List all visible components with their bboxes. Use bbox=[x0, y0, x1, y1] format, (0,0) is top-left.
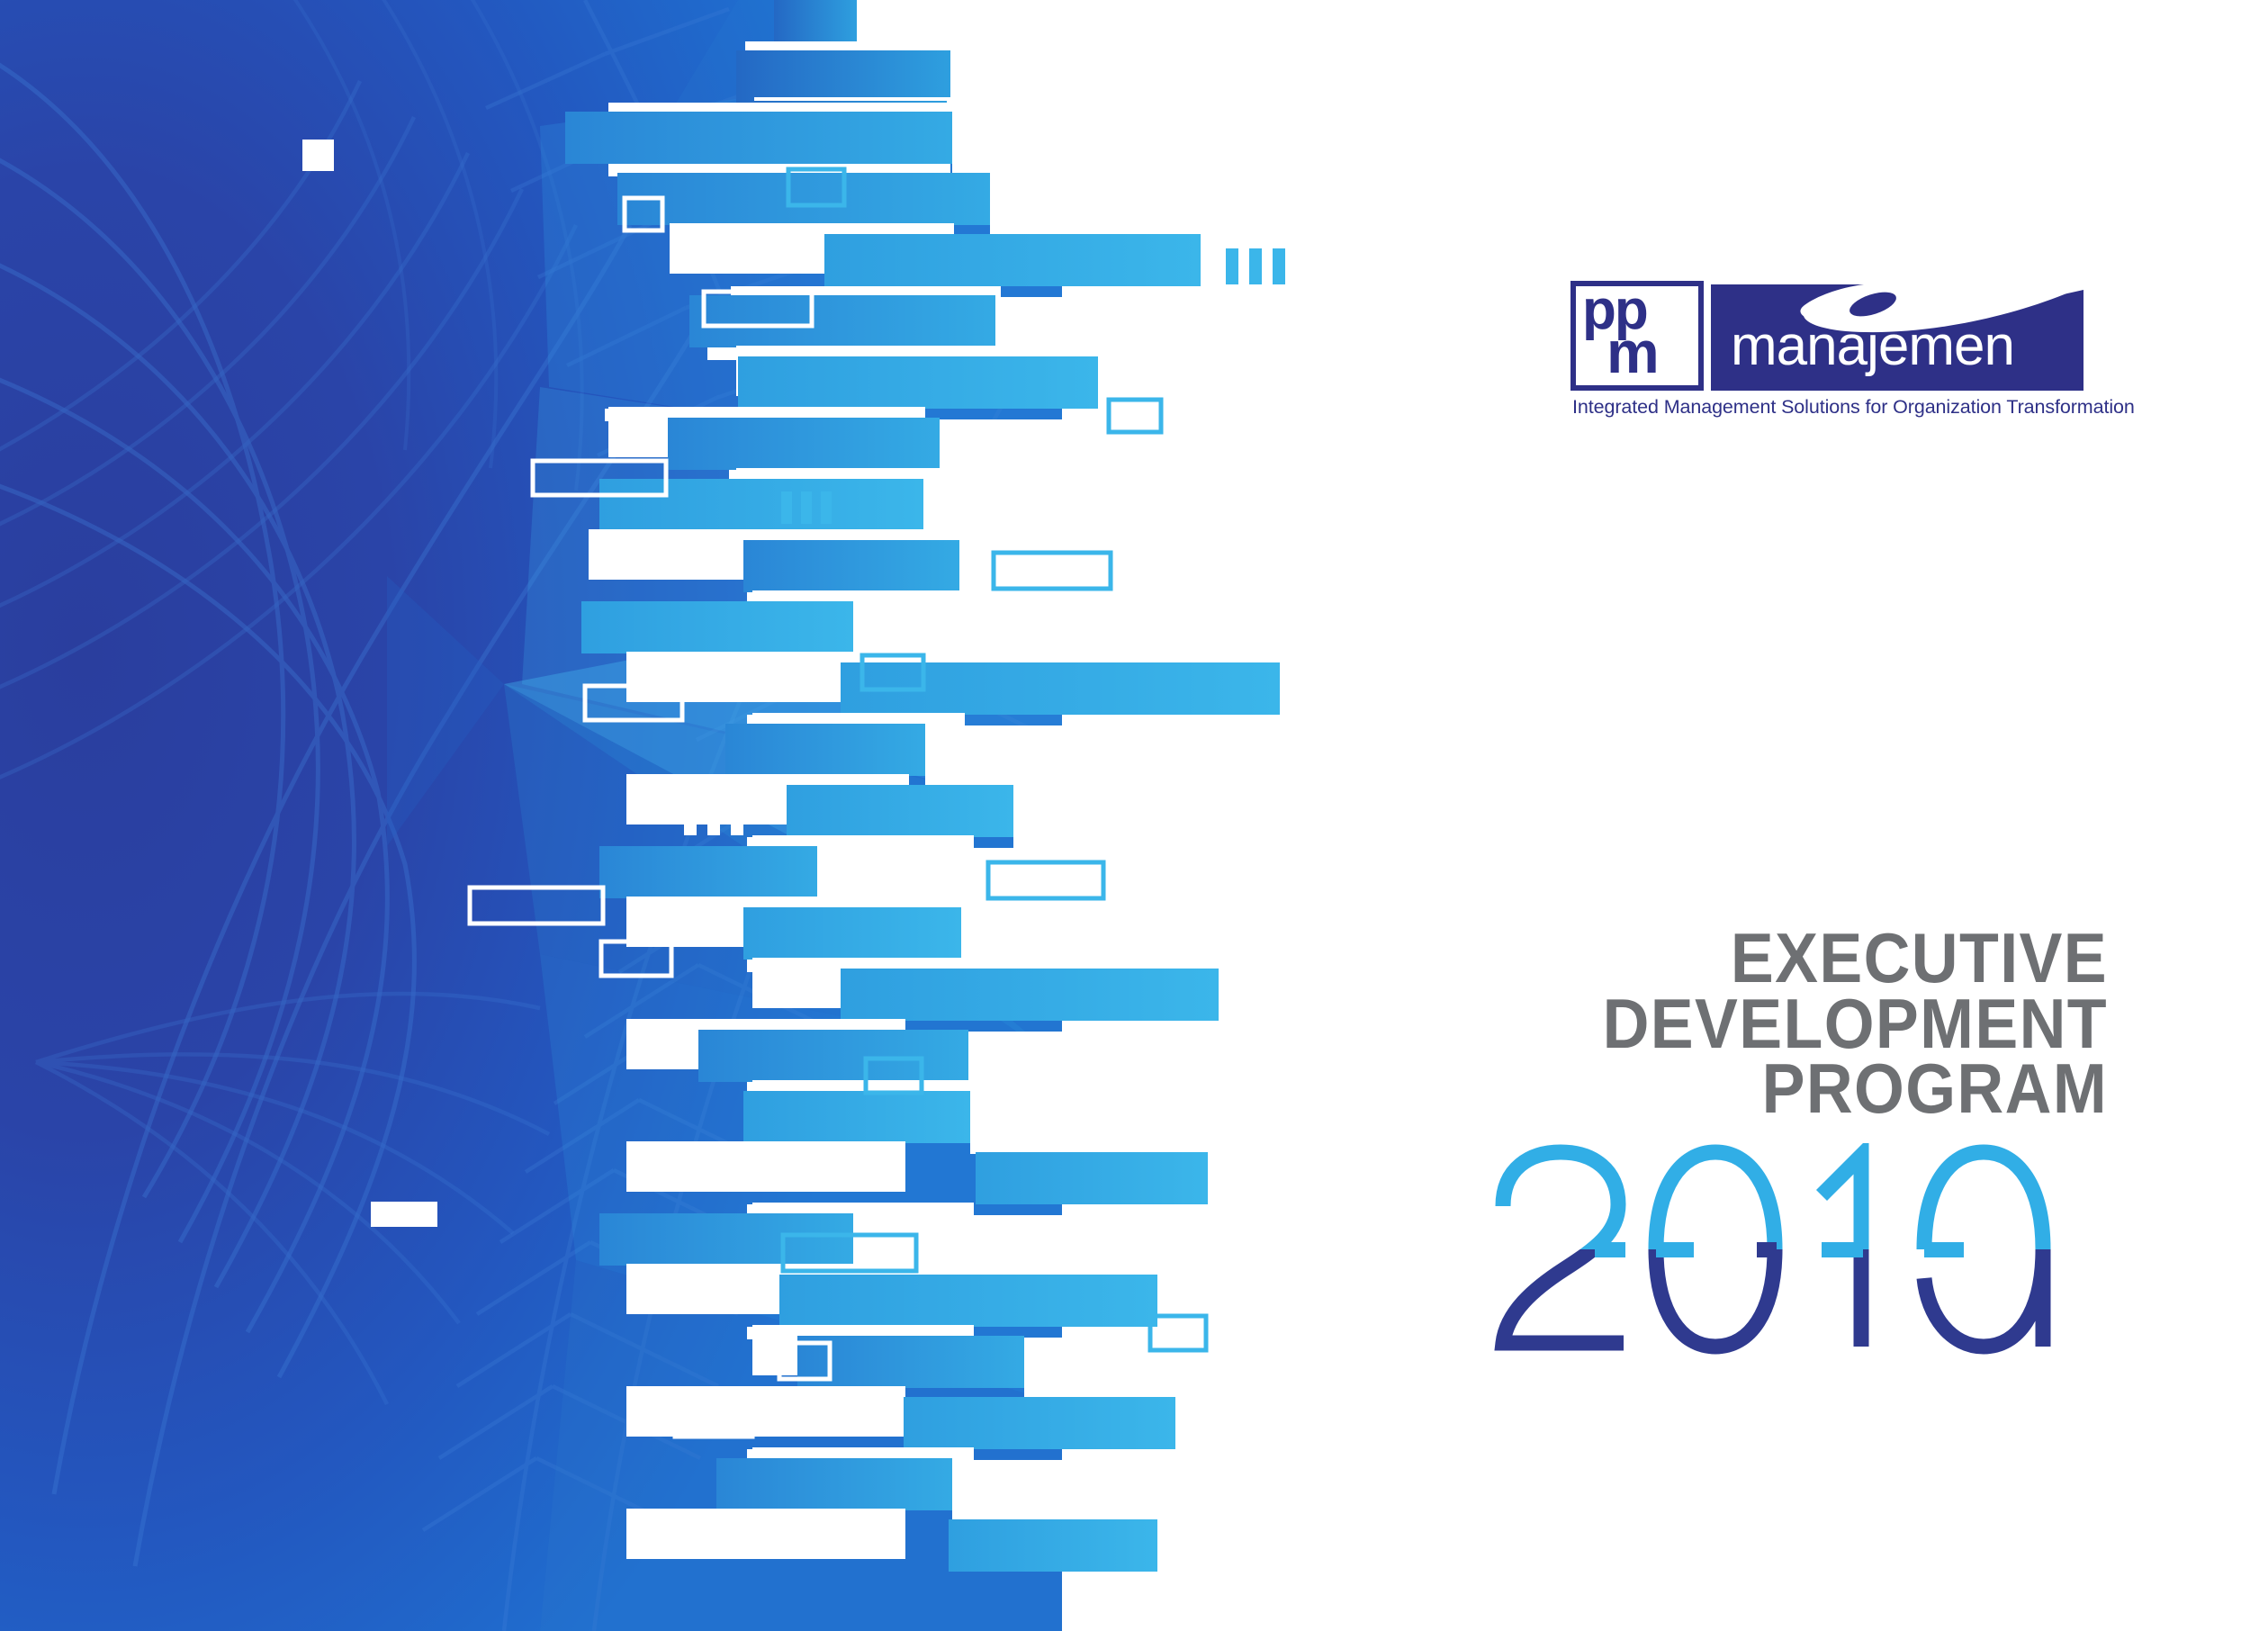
page-title: EXECUTIVE DEVELOPMENT PROGRAM bbox=[1118, 925, 2108, 1122]
logo-tagline: Integrated Management Solutions for Orga… bbox=[1572, 396, 2082, 419]
year-graphic bbox=[1487, 1143, 2117, 1368]
ppm-mark: pp m bbox=[1570, 281, 1704, 391]
year-2019-icon bbox=[1487, 1143, 2117, 1368]
ppm-mark-inner: pp m bbox=[1576, 286, 1698, 385]
title-line-1: EXECUTIVE bbox=[1197, 925, 2108, 991]
logo-mark-bottom: m bbox=[1606, 322, 1660, 382]
blue-background-panel bbox=[0, 0, 1062, 1631]
title-line-2: DEVELOPMENT bbox=[1197, 991, 2108, 1057]
marker-square bbox=[302, 140, 334, 171]
polygon-facets bbox=[0, 0, 1062, 1631]
title-line-3: PROGRAM bbox=[1197, 1056, 2108, 1122]
ppm-manajemen-logo: pp m manajemen Integrated Management Sol… bbox=[1570, 281, 2083, 434]
brochure-cover: pp m manajemen Integrated Management Sol… bbox=[0, 0, 2268, 1631]
marker-dash bbox=[371, 1202, 437, 1227]
manajemen-wordmark-block: manajemen bbox=[1711, 281, 2083, 391]
logo-wordmark: manajemen bbox=[1731, 319, 2014, 374]
